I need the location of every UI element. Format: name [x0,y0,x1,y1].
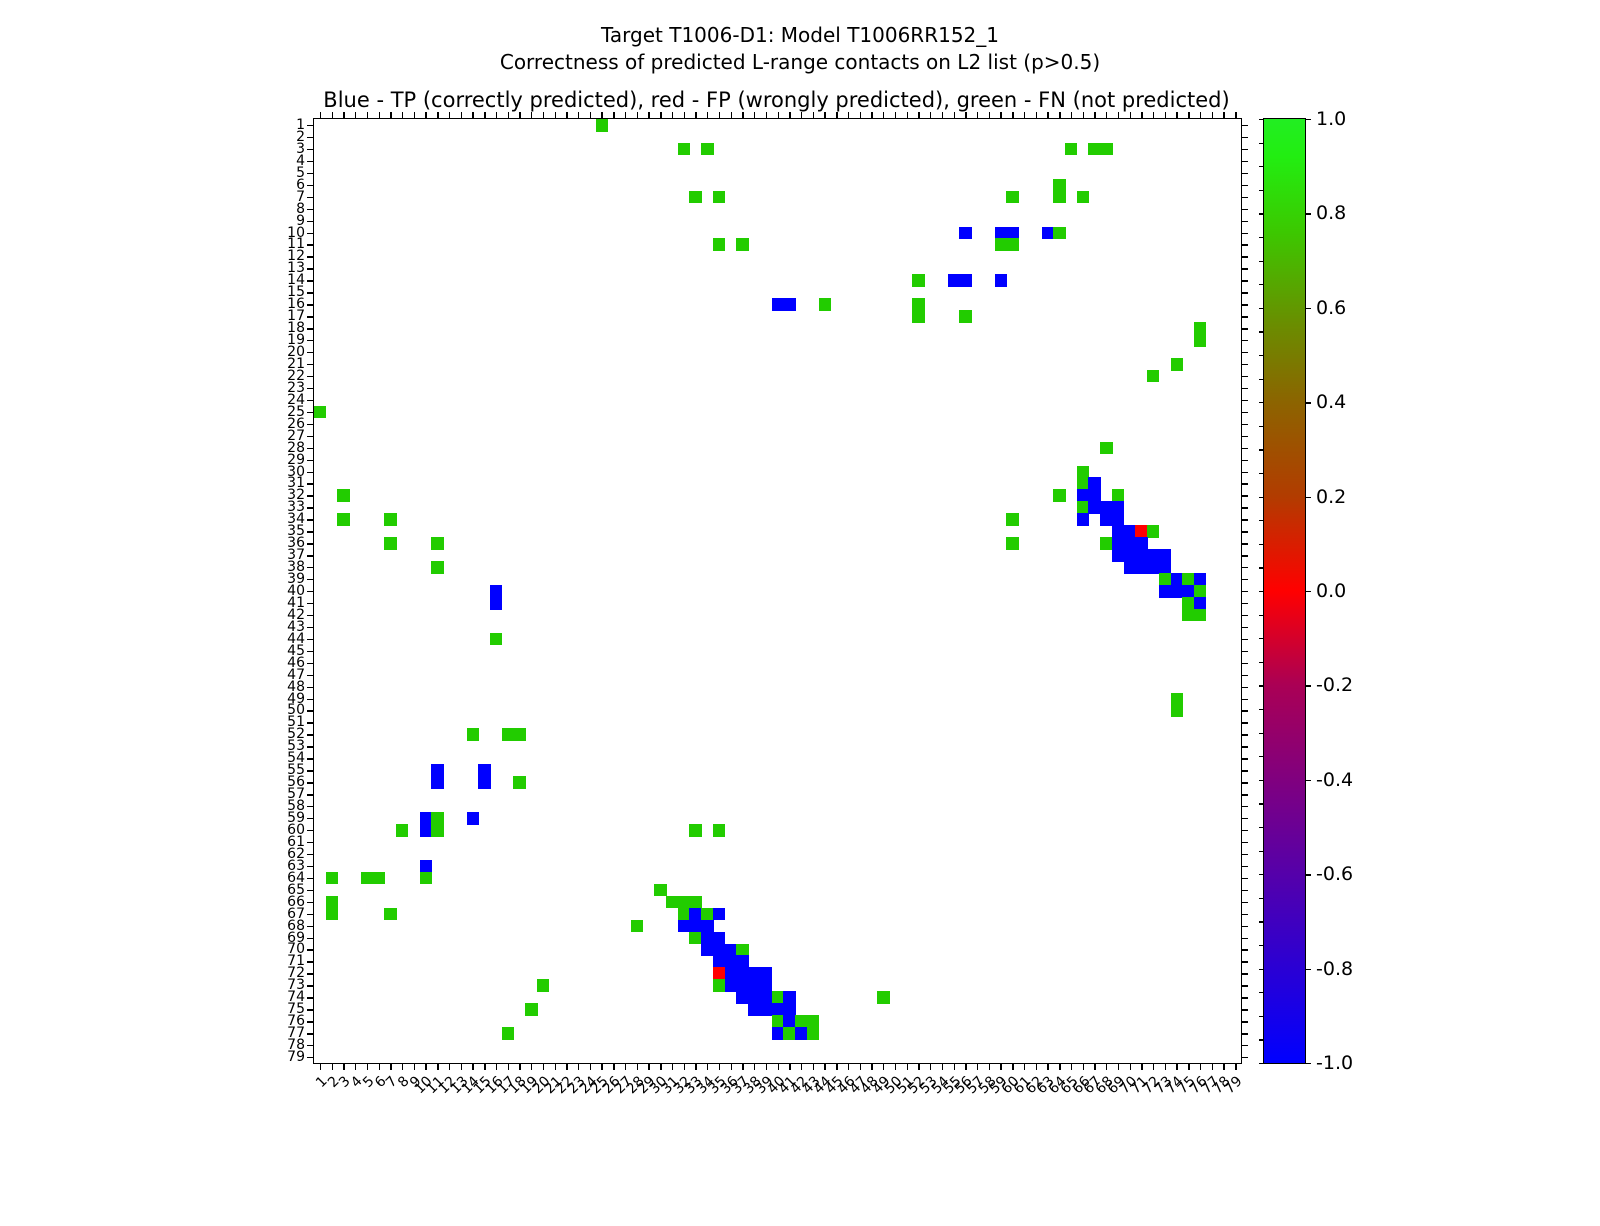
colorbar-minor-tick [1259,945,1264,946]
y-axis-tick [307,149,314,150]
contact-cell [678,908,690,921]
y-axis-tick-right [1241,949,1248,950]
contact-cell [1194,334,1206,347]
colorbar-tick-label: -0.6 [1316,863,1353,885]
x-axis-tick-top [742,112,743,119]
colorbar-minor-tick [1259,851,1264,852]
x-axis-tick [543,1063,544,1070]
y-axis-tick-right [1241,1021,1248,1022]
colorbar-minor-tick [1259,1063,1264,1064]
contact-cell [1194,597,1206,610]
y-axis-tick [307,483,314,484]
x-axis-tick-top [1200,112,1201,119]
y-axis-tick-right [1241,268,1248,269]
contact-cell [795,1015,807,1028]
x-axis-tick-top [1059,112,1060,119]
x-axis-tick [402,1063,403,1070]
colorbar-minor-tick [1259,709,1264,710]
y-axis-tick [307,519,314,520]
x-axis-tick-top [425,112,426,119]
contact-cell [748,1003,760,1016]
contact-cell [1112,549,1124,562]
x-axis-tick-top [942,112,943,119]
contact-cell [1088,143,1100,156]
contact-cell [1077,501,1089,514]
contact-cell [654,884,666,897]
x-axis-tick-top [754,112,755,119]
x-axis-tick [625,1063,626,1070]
y-axis-tick [307,555,314,556]
y-axis-tick [307,1009,314,1010]
contact-cell [1077,466,1089,479]
x-axis-tick [531,1063,532,1070]
y-axis-tick-right [1241,519,1248,520]
x-axis-tick-top [707,112,708,119]
contact-cell [1006,227,1018,240]
contact-cell [713,967,725,980]
y-axis-tick [307,364,314,365]
contact-cell [689,920,701,933]
y-axis-tick-right [1241,615,1248,616]
x-axis-tick-top [648,112,649,119]
contact-cell [337,513,349,526]
x-axis-tick [1094,1063,1095,1070]
contact-cell [431,776,443,789]
x-axis-tick [1223,1063,1224,1070]
contact-cell [689,824,701,837]
x-axis-tick [437,1063,438,1070]
contact-cell [478,764,490,777]
x-axis-tick [684,1063,685,1070]
y-axis-tick [307,699,314,700]
contact-cell [1065,143,1077,156]
y-axis-tick [307,125,314,126]
y-axis-tick-right [1241,627,1248,628]
y-axis-tick [307,352,314,353]
x-axis-tick-top [519,112,520,119]
x-axis-tick-top [907,112,908,119]
y-axis-tick [307,687,314,688]
y-axis-tick [307,1021,314,1022]
x-axis-tick-top [719,112,720,119]
contact-cell [948,274,960,287]
x-axis-tick [766,1063,767,1070]
y-axis-tick [307,902,314,903]
contact-cell [1135,561,1147,574]
y-axis-tick-right [1241,328,1248,329]
y-axis-tick-right [1241,316,1248,317]
colorbar-minor-tick [1259,780,1264,781]
x-axis-tick-top [390,112,391,119]
colorbar-minor-tick [1259,969,1264,970]
y-axis-tick [307,627,314,628]
y-axis-tick [307,328,314,329]
x-axis-tick-top [1071,112,1072,119]
y-axis-tick-right [1241,651,1248,652]
x-axis-tick [695,1063,696,1070]
y-axis-tick-right [1241,495,1248,496]
y-axis-tick-right [1241,902,1248,903]
y-axis-tick [307,472,314,473]
colorbar-minor-tick [1259,166,1264,167]
x-axis-tick [719,1063,720,1070]
contact-cell [1112,501,1124,514]
y-axis-tick [307,591,314,592]
y-axis-tick-right [1241,722,1248,723]
contact-cell [1147,549,1159,562]
colorbar-minor-tick [1259,1039,1264,1040]
contact-cell [326,908,338,921]
x-axis-tick [1036,1063,1037,1070]
x-axis-tick [1071,1063,1072,1070]
y-axis-tick [307,376,314,377]
y-axis-tick [307,209,314,210]
x-axis-tick-top [836,112,837,119]
x-axis-tick [1047,1063,1048,1070]
figure-suptitle: Target T1006-D1: Model T1006RR152_1 Corr… [0,22,1600,76]
x-axis-tick [660,1063,661,1070]
x-axis-tick-top [660,112,661,119]
contact-cell [912,298,924,311]
x-axis-tick-top [449,112,450,119]
y-axis-tick-right [1241,304,1248,305]
y-axis-tick [307,806,314,807]
y-axis-tick [307,866,314,867]
contact-cell [678,143,690,156]
x-axis-tick-top [965,112,966,119]
x-axis-tick [461,1063,462,1070]
contact-cell [666,896,678,909]
colorbar-minor-tick [1259,261,1264,262]
contact-cell [1100,537,1112,550]
contact-cell [1088,501,1100,514]
y-axis-tick [307,579,314,580]
x-axis-tick-top [1094,112,1095,119]
contact-cell [877,991,889,1004]
x-axis-tick-top [883,112,884,119]
contact-cell [713,908,725,921]
y-axis-tick-right [1241,639,1248,640]
x-axis-tick-top [1024,112,1025,119]
y-axis-tick-right [1241,388,1248,389]
x-axis-tick [1165,1063,1166,1070]
x-axis-tick [1153,1063,1154,1070]
x-axis-tick-top [414,112,415,119]
x-axis-tick [801,1063,802,1070]
x-axis-tick [742,1063,743,1070]
x-axis-tick-top [1130,112,1131,119]
contact-cell [1124,549,1136,562]
contact-cell [713,824,725,837]
y-axis-tick-right [1241,567,1248,568]
contact-cell [760,991,772,1004]
y-axis-tick-right [1241,412,1248,413]
contact-cell [1194,585,1206,598]
x-axis-tick-top [954,112,955,119]
x-axis-tick [860,1063,861,1070]
x-axis-tick-top [813,112,814,119]
y-axis-tick [307,280,314,281]
x-axis-tick-top [977,112,978,119]
x-axis-tick-top [508,112,509,119]
contact-cell [396,824,408,837]
y-axis-tick-right [1241,794,1248,795]
y-axis-tick [307,710,314,711]
contact-cell [725,955,737,968]
y-axis-tick-right [1241,149,1248,150]
contact-cell [1112,489,1124,502]
x-axis-tick [425,1063,426,1070]
y-axis-tick [307,938,314,939]
contact-cell [1112,513,1124,526]
contact-cell [783,1027,795,1040]
y-axis-tick-right [1241,221,1248,222]
x-axis-tick [1118,1063,1119,1070]
x-axis-tick [918,1063,919,1070]
y-axis-tick-right [1241,973,1248,974]
y-axis-tick-right [1241,758,1248,759]
x-axis-tick [1212,1063,1213,1070]
contact-map-cells [314,119,1241,1063]
colorbar-minor-tick [1259,473,1264,474]
y-axis-tick [307,304,314,305]
y-axis-tick [307,567,314,568]
contact-cell [713,955,725,968]
contact-cell [1194,609,1206,622]
contact-cell [1100,143,1112,156]
y-axis-tick-right [1241,854,1248,855]
contact-cell [713,191,725,204]
contact-cell [1053,191,1065,204]
contact-cell [995,227,1007,240]
y-axis-tick-right [1241,938,1248,939]
x-axis-tick [496,1063,497,1070]
y-axis-tick [307,400,314,401]
contact-cell [1171,705,1183,718]
colorbar-minor-tick [1259,662,1264,663]
y-axis-tick [307,746,314,747]
colorbar-tick [1305,308,1311,309]
y-axis-tick-right [1241,1057,1248,1058]
contact-map-figure: Target T1006-D1: Model T1006RR152_1 Corr… [0,0,1600,1200]
colorbar-minor-tick [1259,213,1264,214]
contact-cell [596,119,608,132]
contact-cell [807,1015,819,1028]
x-axis-tick [320,1063,321,1070]
colorbar-minor-tick [1259,756,1264,757]
y-axis-tick-right [1241,448,1248,449]
x-axis-tick [965,1063,966,1070]
contact-cell [420,812,432,825]
y-axis-tick-right [1241,699,1248,700]
y-axis-tick [307,734,314,735]
y-axis-tick-right [1241,710,1248,711]
colorbar-minor-tick [1259,1016,1264,1017]
x-axis-tick-top [824,112,825,119]
y-axis-tick [307,830,314,831]
y-axis-tick [307,818,314,819]
contact-cell [736,967,748,980]
x-axis-tick [977,1063,978,1070]
y-axis-tick [307,197,314,198]
colorbar-minor-tick [1259,449,1264,450]
x-axis-tick-top [871,112,872,119]
colorbar-minor-tick [1259,331,1264,332]
contact-cell [783,298,795,311]
y-axis-tick-right [1241,818,1248,819]
y-axis-tick-right [1241,1033,1248,1034]
colorbar-minor-tick [1259,733,1264,734]
y-axis-tick-right [1241,173,1248,174]
y-axis-tick-right [1241,280,1248,281]
x-axis-tick-top [778,112,779,119]
contact-map-plot-area[interactable]: 1234567891011121314151617181920212223242… [313,118,1242,1064]
contact-cell [713,944,725,957]
contact-cell [1006,191,1018,204]
colorbar-tick [1305,402,1311,403]
contact-cell [1147,561,1159,574]
x-axis-tick-top [1212,112,1213,119]
y-axis-tick-right [1241,161,1248,162]
y-axis-tick-right [1241,352,1248,353]
contact-cell [537,979,549,992]
contact-cell [959,310,971,323]
contact-cell [431,824,443,837]
x-axis-tick [907,1063,908,1070]
x-axis-tick-top [695,112,696,119]
y-axis-tick-right [1241,866,1248,867]
x-axis-tick [731,1063,732,1070]
contact-cell [502,1027,514,1040]
x-axis-tick-top [1165,112,1166,119]
y-axis-tick [307,316,314,317]
colorbar-minor-tick [1259,402,1264,403]
colorbar-minor-tick [1259,520,1264,521]
contact-cell [689,896,701,909]
x-axis-tick [508,1063,509,1070]
contact-cell [772,298,784,311]
y-axis-tick [307,615,314,616]
colorbar-minor-tick [1259,544,1264,545]
x-axis-tick [566,1063,567,1070]
x-axis-tick-top [601,112,602,119]
x-axis-tick-top [989,112,990,119]
contact-cell [689,908,701,921]
contact-cell [525,1003,537,1016]
x-axis-tick [648,1063,649,1070]
contact-cell [713,979,725,992]
contact-cell [1100,501,1112,514]
y-axis-tick-right [1241,209,1248,210]
contact-cell [701,908,713,921]
y-axis-tick-right [1241,424,1248,425]
y-axis-tick [307,842,314,843]
x-axis-tick-top [1047,112,1048,119]
y-axis-tick [307,460,314,461]
x-axis-tick [332,1063,333,1070]
y-axis-tick-right [1241,782,1248,783]
axes-title-legend: Blue - TP (correctly predicted), red - F… [313,88,1240,112]
colorbar-tick [1305,969,1311,970]
contact-cell [725,979,737,992]
contact-cell [760,1003,772,1016]
x-axis-tick [472,1063,473,1070]
colorbar-tick [1305,591,1311,592]
colorbar-tick [1305,497,1311,498]
contact-cell [1100,442,1112,455]
contact-cell [1159,585,1171,598]
y-axis-tick [307,340,314,341]
contact-cell [1135,537,1147,550]
contact-cell [689,932,701,945]
contact-cell [1124,561,1136,574]
x-axis-tick [778,1063,779,1070]
colorbar-tick-label: -0.8 [1316,958,1353,980]
contact-cell [384,537,396,550]
colorbar-minor-tick [1259,426,1264,427]
contact-cell [783,1003,795,1016]
y-axis-tick [307,890,314,891]
contact-cell [1124,525,1136,538]
y-axis-tick-right [1241,746,1248,747]
x-axis-tick-top [1176,112,1177,119]
x-axis-tick [1130,1063,1131,1070]
y-axis-tick [307,161,314,162]
x-axis-tick-top [860,112,861,119]
contact-cell [760,979,772,992]
y-axis-tick [307,663,314,664]
x-axis-tick [555,1063,556,1070]
colorbar-minor-tick [1259,284,1264,285]
contact-cell [1088,489,1100,502]
y-axis-tick [307,233,314,234]
x-axis-tick-top [672,112,673,119]
y-axis-tick [307,221,314,222]
y-axis-tick [307,973,314,974]
y-axis-tick-right [1241,734,1248,735]
x-axis-tick-top [625,112,626,119]
y-axis-tick [307,244,314,245]
contact-cell [490,597,502,610]
contact-cell [337,489,349,502]
x-axis-tick-top [1012,112,1013,119]
colorbar-tick [1305,213,1311,214]
colorbar-minor-tick [1259,591,1264,592]
contact-cell [513,728,525,741]
x-axis-tick [449,1063,450,1070]
colorbar-minor-tick [1259,143,1264,144]
contact-cell [1006,238,1018,251]
y-axis-tick-right [1241,233,1248,234]
contact-cell [1182,585,1194,598]
x-axis-tick [836,1063,837,1070]
y-axis-tick-right [1241,555,1248,556]
contact-cell [1112,525,1124,538]
x-axis-tick-top [1188,112,1189,119]
y-axis-tick [307,268,314,269]
contact-cell [1135,549,1147,562]
colorbar-minor-tick [1259,308,1264,309]
x-axis-tick [1141,1063,1142,1070]
y-axis-tick [307,292,314,293]
contact-cell [760,967,772,980]
contact-cell [631,920,643,933]
x-axis-tick-top [472,112,473,119]
colorbar-minor-tick [1259,803,1264,804]
x-axis-tick [930,1063,931,1070]
colorbar-tick-label: 0.0 [1316,580,1346,602]
y-axis-tick-right [1241,483,1248,484]
